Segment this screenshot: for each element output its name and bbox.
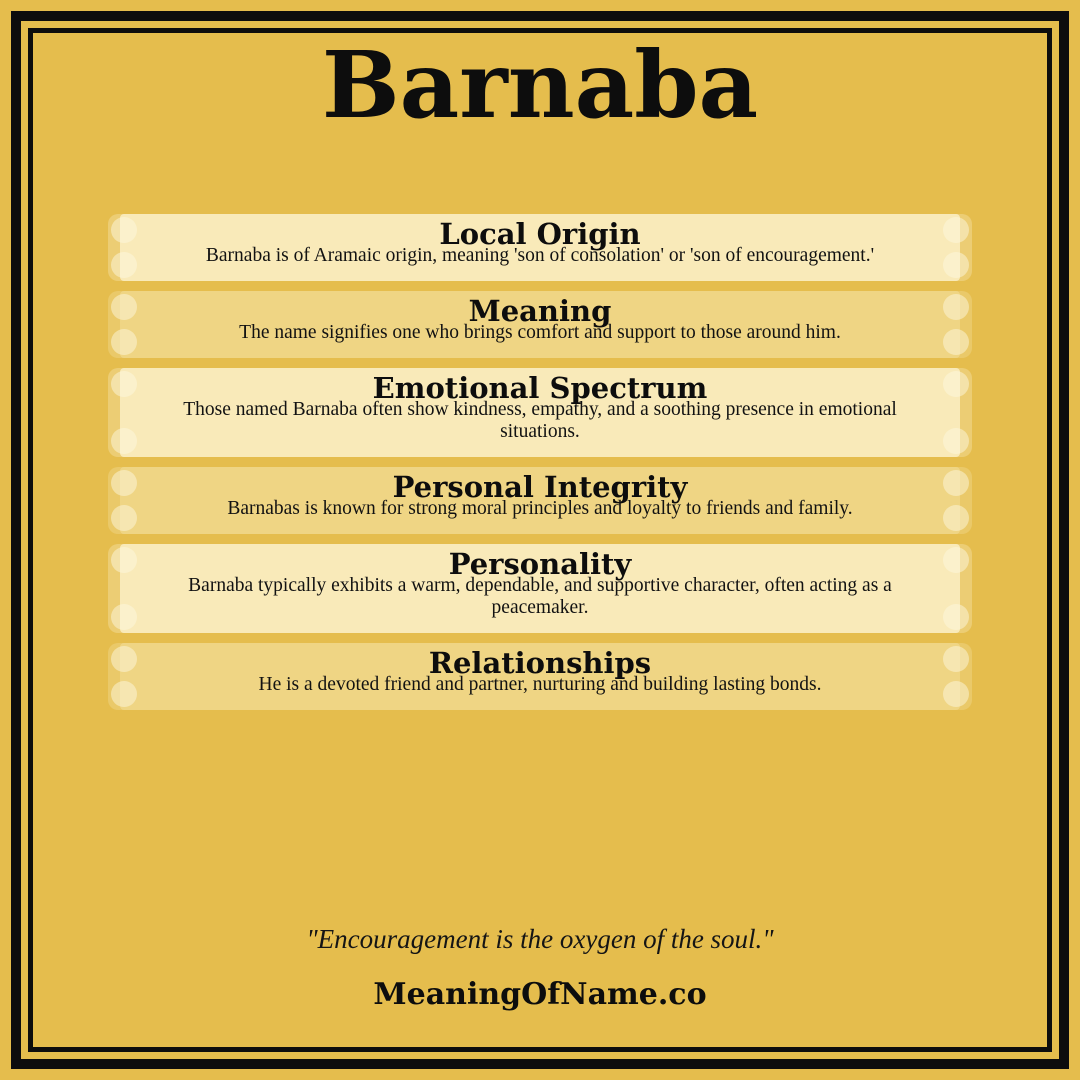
name-meaning-poster: Barnaba Local Origin Barnaba is of Arama… [0, 0, 1080, 1080]
poster-content: Barnaba Local Origin Barnaba is of Arama… [33, 33, 1047, 1047]
card-body: Those named Barnaba often show kindness,… [146, 399, 934, 443]
card-body: He is a devoted friend and partner, nurt… [146, 674, 934, 696]
card-panel: Meaning The name signifies one who bring… [120, 291, 960, 358]
footer-site-name: MeaningOfName.co [33, 977, 1047, 1013]
card-panel: Personality Barnaba typically exhibits a… [120, 544, 960, 633]
page-title: Barnaba [33, 39, 1047, 131]
card-body: The name signifies one who brings comfor… [146, 322, 934, 344]
info-card: Personal Integrity Barnabas is known for… [108, 467, 972, 534]
card-panel: Local Origin Barnaba is of Aramaic origi… [120, 214, 960, 281]
card-body: Barnabas is known for strong moral princ… [146, 498, 934, 520]
info-card: Relationships He is a devoted friend and… [108, 643, 972, 710]
card-body: Barnaba typically exhibits a warm, depen… [146, 575, 934, 619]
info-card-list: Local Origin Barnaba is of Aramaic origi… [108, 205, 972, 720]
card-body: Barnaba is of Aramaic origin, meaning 's… [146, 245, 934, 267]
footer-quote: "Encouragement is the oxygen of the soul… [33, 923, 1047, 955]
info-card: Emotional Spectrum Those named Barnaba o… [108, 368, 972, 457]
card-panel: Relationships He is a devoted friend and… [120, 643, 960, 710]
card-panel: Personal Integrity Barnabas is known for… [120, 467, 960, 534]
info-card: Meaning The name signifies one who bring… [108, 291, 972, 358]
info-card: Local Origin Barnaba is of Aramaic origi… [108, 214, 972, 281]
poster-footer: "Encouragement is the oxygen of the soul… [33, 923, 1047, 1013]
info-card: Personality Barnaba typically exhibits a… [108, 544, 972, 633]
card-panel: Emotional Spectrum Those named Barnaba o… [120, 368, 960, 457]
